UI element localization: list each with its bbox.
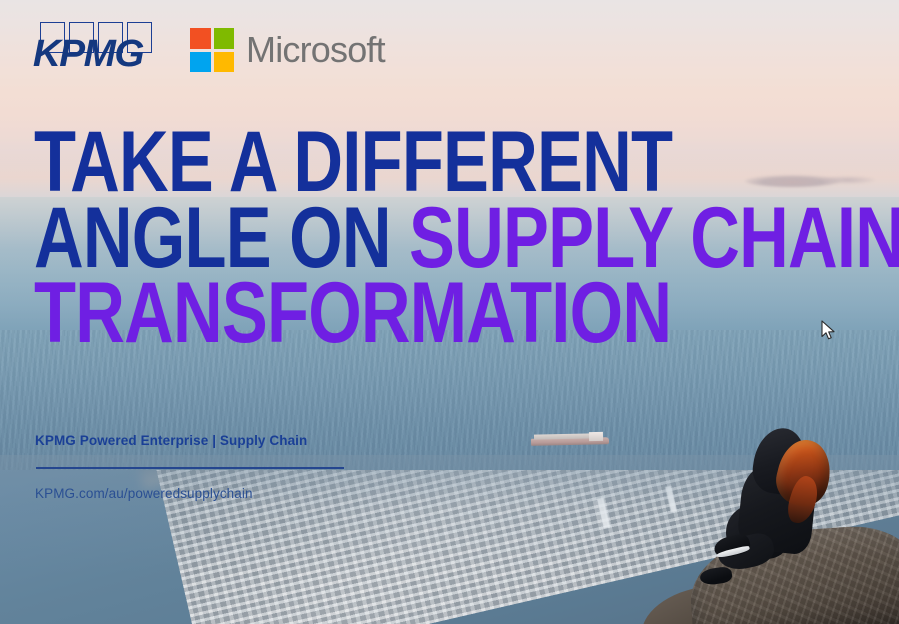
arrow-pointer-icon bbox=[821, 320, 837, 342]
logo-row: KPMG Microsoft bbox=[0, 0, 899, 92]
microsoft-red-square bbox=[190, 28, 211, 49]
slide-canvas: KPMG Microsoft TAKE A DIFFERENT ANGLE ON… bbox=[0, 0, 899, 624]
kpmg-logo: KPMG bbox=[34, 22, 152, 74]
microsoft-yellow-square bbox=[214, 52, 235, 73]
headline-line-3: TRANSFORMATION bbox=[34, 276, 642, 352]
ship-bridge bbox=[589, 432, 603, 441]
subtitle: KPMG Powered Enterprise | Supply Chain bbox=[35, 433, 307, 448]
seated-person bbox=[718, 418, 848, 583]
headline: TAKE A DIFFERENT ANGLE ON SUPPLY CHAIN T… bbox=[34, 125, 642, 352]
website-url: KPMG.com/au/poweredsupplychain bbox=[35, 486, 253, 501]
microsoft-squares-icon bbox=[190, 28, 234, 72]
microsoft-blue-square bbox=[190, 52, 211, 73]
cargo-ship bbox=[531, 432, 609, 445]
kpmg-wordmark: KPMG bbox=[33, 35, 153, 73]
distant-island-small bbox=[820, 176, 875, 184]
microsoft-wordmark: Microsoft bbox=[246, 29, 385, 71]
microsoft-green-square bbox=[214, 28, 235, 49]
divider-rule bbox=[36, 467, 344, 469]
microsoft-logo: Microsoft bbox=[190, 26, 385, 74]
